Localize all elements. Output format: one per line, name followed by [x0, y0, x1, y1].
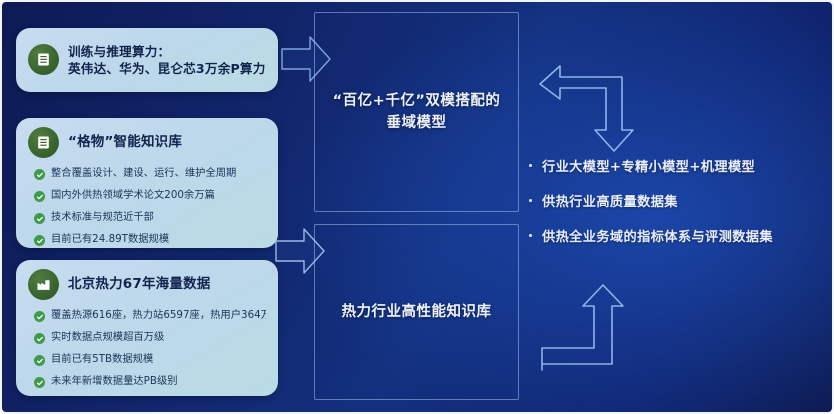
- list-item-label: 整合覆盖设计、建设、运行、维护全周期: [51, 167, 236, 180]
- bullet-dot-icon: [529, 164, 532, 167]
- check-icon: [34, 355, 45, 366]
- check-icon: [34, 169, 45, 180]
- list-item-label: 目前已有5TB数据规模: [51, 353, 153, 366]
- check-icon: [34, 333, 45, 344]
- check-icon: [34, 235, 45, 246]
- bullet-list: 整合覆盖设计、建设、运行、维护全周期 国内外供热领域学术论文200余万篇 技术标…: [28, 167, 266, 246]
- factory-icon: [28, 269, 59, 300]
- list-item: 目前已有24.89T数据规模: [34, 233, 266, 246]
- check-icon: [34, 377, 45, 388]
- list-item-label: 未来年新增数据量达PB级别: [51, 375, 178, 388]
- bullet-dot-icon: [529, 199, 532, 202]
- card-compute-power[interactable]: 训练与推理算力： 英伟达、华为、昆仑芯3万余P算力: [16, 28, 278, 92]
- list-item: 行业大模型+专精小模型+机理模型: [529, 160, 829, 176]
- list-item-label: 行业大模型+专精小模型+机理模型: [542, 160, 755, 176]
- card-header: “格物”智能知识库: [28, 127, 266, 158]
- card-title: 训练与推理算力： 英伟达、华为、昆仑芯3万余P算力: [68, 43, 266, 77]
- card-beijing-heating-data[interactable]: 北京热力67年海量数据 覆盖热源616座，热力站6597座，热用户364万 实时…: [16, 260, 278, 396]
- check-icon: [34, 213, 45, 224]
- list-item-label: 供热行业高质量数据集: [542, 195, 678, 211]
- center-box-label: “百亿+千亿”双模搭配的 垂域模型: [333, 90, 501, 135]
- arrow-left-then-up-icon: [538, 278, 636, 378]
- card-header: 北京热力67年海量数据: [28, 269, 266, 300]
- center-box-knowledge-base[interactable]: 热力行业高性能知识库: [314, 224, 519, 400]
- list-item: 供热全业务域的指标体系与评测数据集: [529, 230, 829, 246]
- check-icon: [34, 191, 45, 202]
- list-item: 目前已有5TB数据规模: [34, 353, 266, 366]
- bullet-list: 覆盖热源616座，热力站6597座，热用户364万 实时数据点规模超百万级 目前…: [28, 309, 266, 388]
- right-bullet-list: 行业大模型+专精小模型+机理模型 供热行业高质量数据集 供热全业务域的指标体系与…: [529, 160, 829, 246]
- list-item: 实时数据点规模超百万级: [34, 331, 266, 344]
- center-box-label: 热力行业高性能知识库: [342, 301, 492, 323]
- list-item: 整合覆盖设计、建设、运行、维护全周期: [34, 167, 266, 180]
- card-title: 北京热力67年海量数据: [68, 275, 211, 293]
- list-item-label: 实时数据点规模超百万级: [51, 331, 164, 344]
- list-item-label: 技术标准与规范近千部: [51, 211, 154, 224]
- card-knowledge-base[interactable]: “格物”智能知识库 整合覆盖设计、建设、运行、维护全周期 国内外供热领域学术论文…: [16, 118, 278, 248]
- book-icon: [28, 127, 59, 158]
- list-item: 供热行业高质量数据集: [529, 195, 829, 211]
- card-header: 训练与推理算力： 英伟达、华为、昆仑芯3万余P算力: [28, 43, 266, 77]
- list-item: 未来年新增数据量达PB级别: [34, 375, 266, 388]
- list-item-label: 供热全业务域的指标体系与评测数据集: [542, 230, 773, 246]
- list-item-label: 目前已有24.89T数据规模: [51, 233, 169, 246]
- check-icon: [34, 311, 45, 322]
- center-box-model[interactable]: “百亿+千亿”双模搭配的 垂域模型: [314, 12, 519, 212]
- list-item: 覆盖热源616座，热力站6597座，热用户364万: [34, 309, 266, 322]
- slide-canvas: 训练与推理算力： 英伟达、华为、昆仑芯3万余P算力 “格物”智能知识库 整合覆盖…: [0, 0, 834, 414]
- bullet-dot-icon: [529, 234, 532, 237]
- list-item: 技术标准与规范近千部: [34, 211, 266, 224]
- card-title: “格物”智能知识库: [68, 133, 182, 151]
- list-item: 国内外供热领域学术论文200余万篇: [34, 189, 266, 202]
- list-item-label: 国内外供热领域学术论文200余万篇: [51, 189, 215, 202]
- arrow-left-then-down-icon: [538, 56, 636, 156]
- book-icon: [28, 44, 59, 75]
- list-item-label: 覆盖热源616座，热力站6597座，热用户364万: [51, 309, 266, 322]
